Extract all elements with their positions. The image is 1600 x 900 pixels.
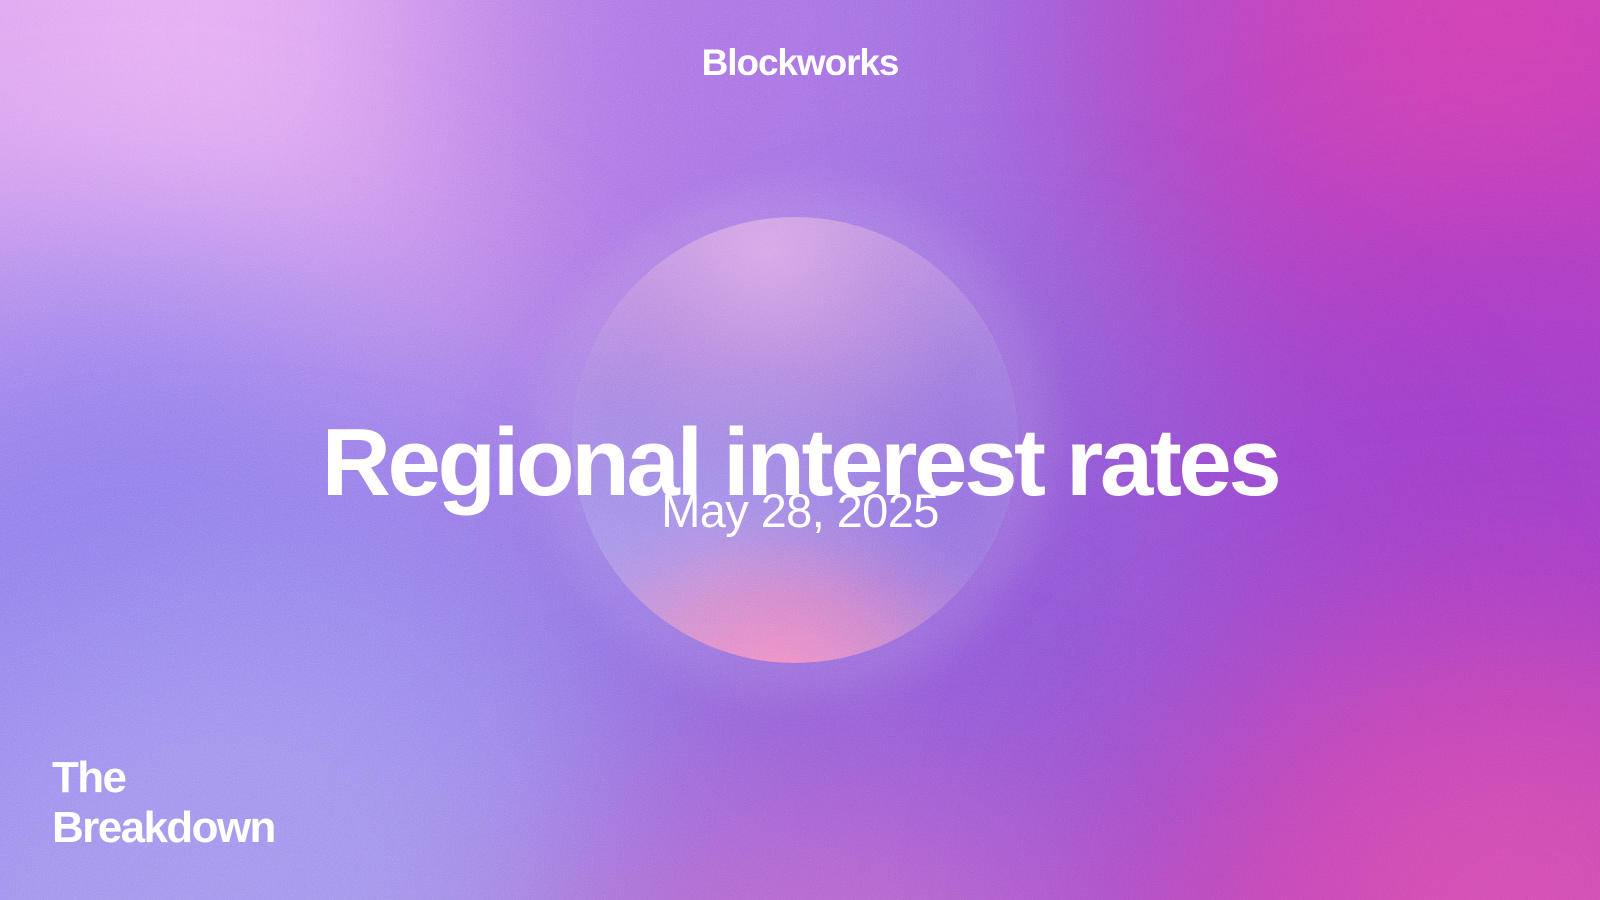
episode-date: May 28, 2025	[0, 485, 1600, 537]
show-wordmark-line-1: The	[52, 753, 275, 802]
blockworks-wordmark[interactable]: Blockworks	[0, 44, 1600, 81]
show-wordmark[interactable]: The Breakdown	[52, 753, 275, 852]
episode-cover-poster: Blockworks Regional interest rates May 2…	[0, 0, 1600, 900]
show-wordmark-line-2: Breakdown	[52, 803, 275, 852]
poster-content: Blockworks Regional interest rates May 2…	[0, 0, 1600, 900]
